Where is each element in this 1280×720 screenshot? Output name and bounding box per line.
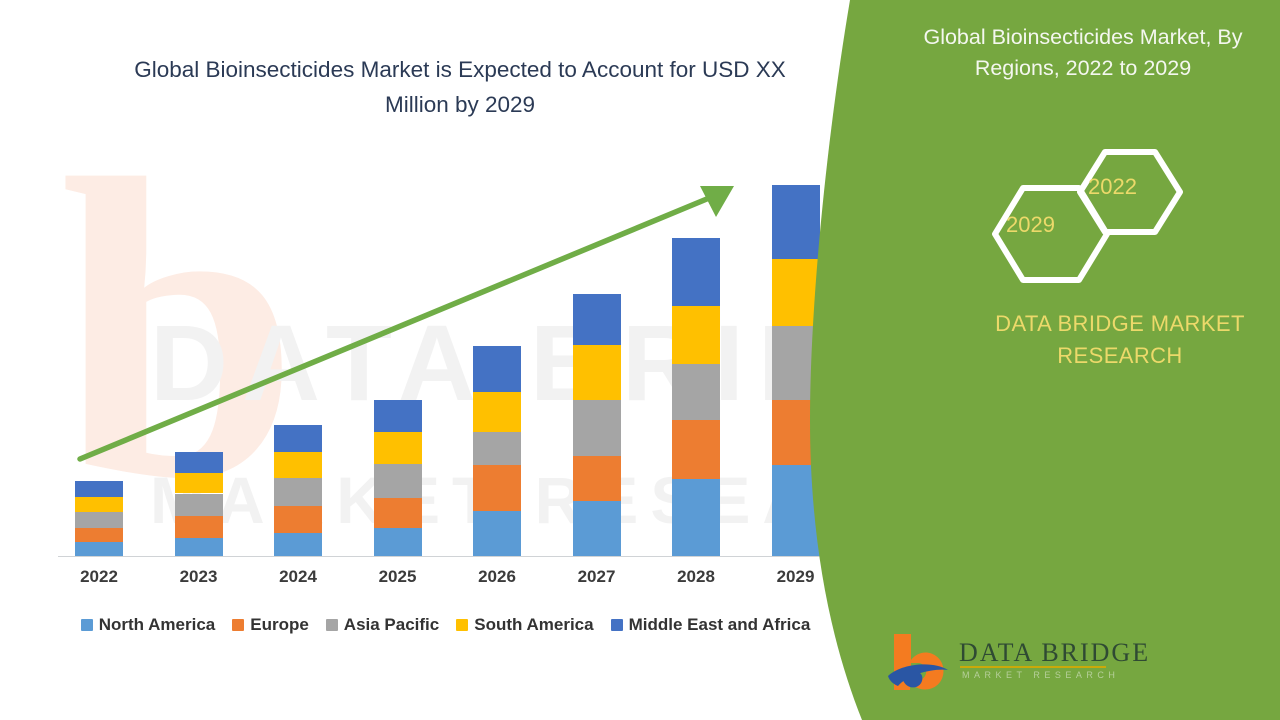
bar-segment xyxy=(473,432,521,465)
stacked-bar xyxy=(473,346,521,556)
bar-segment xyxy=(175,452,223,473)
bar-segment xyxy=(473,465,521,510)
legend-label: Europe xyxy=(250,615,309,635)
bar-segment xyxy=(473,392,521,432)
logo-wordmark: DATA BRIDGE xyxy=(959,638,1150,668)
bar-segment xyxy=(672,364,720,419)
legend-swatch-icon xyxy=(611,619,623,631)
panel-title: Global Bioinsecticides Market, By Region… xyxy=(888,22,1278,84)
legend-label: North America xyxy=(99,615,216,635)
bar-segment xyxy=(75,481,123,496)
bar-segment xyxy=(374,528,422,556)
data-bridge-logo: DATA BRIDGE MARKET RESEARCH xyxy=(884,630,1114,704)
bar-segment xyxy=(573,294,621,345)
legend-swatch-icon xyxy=(326,619,338,631)
stacked-bar xyxy=(175,452,223,556)
growth-arrow-icon xyxy=(0,0,860,600)
bar-segment xyxy=(374,432,422,464)
legend-item[interactable]: Asia Pacific xyxy=(326,615,439,635)
stacked-bar xyxy=(573,294,621,556)
legend-label: Middle East and Africa xyxy=(629,615,811,635)
legend-swatch-icon xyxy=(232,619,244,631)
x-axis-tick-label: 2028 xyxy=(651,567,741,587)
legend-item[interactable]: Europe xyxy=(232,615,309,635)
hexagon-outline-icon xyxy=(975,130,1195,290)
legend-label: South America xyxy=(474,615,593,635)
bar-segment xyxy=(374,400,422,432)
bar-segment xyxy=(75,497,123,512)
bar-segment xyxy=(274,452,322,478)
bar-segment xyxy=(274,533,322,556)
x-axis-tick-label: 2027 xyxy=(552,567,642,587)
x-axis-tick-label: 2026 xyxy=(452,567,542,587)
bar-segment xyxy=(175,538,223,556)
legend-item[interactable]: North America xyxy=(81,615,216,635)
stacked-bar xyxy=(274,425,322,556)
stacked-bar xyxy=(75,481,123,556)
bar-segment xyxy=(672,479,720,556)
legend-swatch-icon xyxy=(81,619,93,631)
bar-segment xyxy=(175,516,223,538)
bar-segment xyxy=(75,542,123,556)
bar-segment xyxy=(374,498,422,528)
panel-brand-text: DATA BRIDGE MARKET RESEARCH xyxy=(970,308,1270,372)
bar-segment xyxy=(374,464,422,497)
x-axis-line xyxy=(58,556,833,557)
legend-label: Asia Pacific xyxy=(344,615,439,635)
bar-segment xyxy=(274,478,322,505)
infographic-canvas: b DATA BRIDGE MARKET RESEARCH Global Bio… xyxy=(0,0,1280,720)
bar-segment xyxy=(672,306,720,364)
bar-segment xyxy=(473,511,521,556)
bar-segment xyxy=(75,528,123,542)
stacked-bar xyxy=(374,400,422,556)
bar-segment xyxy=(175,494,223,516)
bar-segment xyxy=(75,512,123,528)
bar-segment xyxy=(274,506,322,533)
bar-segment xyxy=(573,456,621,500)
bar-segment xyxy=(672,420,720,479)
bar-segment xyxy=(672,238,720,306)
bar-segment xyxy=(274,425,322,452)
bar-segment xyxy=(473,346,521,391)
bar-segment xyxy=(573,501,621,556)
x-axis-tick-label: 2022 xyxy=(54,567,144,587)
chart-legend: North AmericaEuropeAsia PacificSouth Ame… xyxy=(58,615,833,635)
x-axis-tick-label: 2024 xyxy=(253,567,343,587)
hex-badge-label-2029: 2029 xyxy=(1006,212,1055,238)
x-axis-tick-label: 2023 xyxy=(154,567,244,587)
bar-segment xyxy=(573,345,621,399)
bar-segment xyxy=(175,473,223,493)
legend-item[interactable]: South America xyxy=(456,615,593,635)
chart-plot-area: 20222023202420252026202720282029 xyxy=(0,0,860,600)
logo-tagline: MARKET RESEARCH xyxy=(962,670,1119,680)
logo-mark-icon xyxy=(884,630,956,700)
logo-divider xyxy=(960,666,1106,668)
legend-item[interactable]: Middle East and Africa xyxy=(611,615,811,635)
hexagon-badges: 2022 2029 xyxy=(975,130,1195,290)
bar-segment xyxy=(573,400,621,456)
x-axis-tick-label: 2025 xyxy=(353,567,443,587)
stacked-bar xyxy=(672,238,720,556)
hex-badge-label-2022: 2022 xyxy=(1088,174,1137,200)
legend-swatch-icon xyxy=(456,619,468,631)
